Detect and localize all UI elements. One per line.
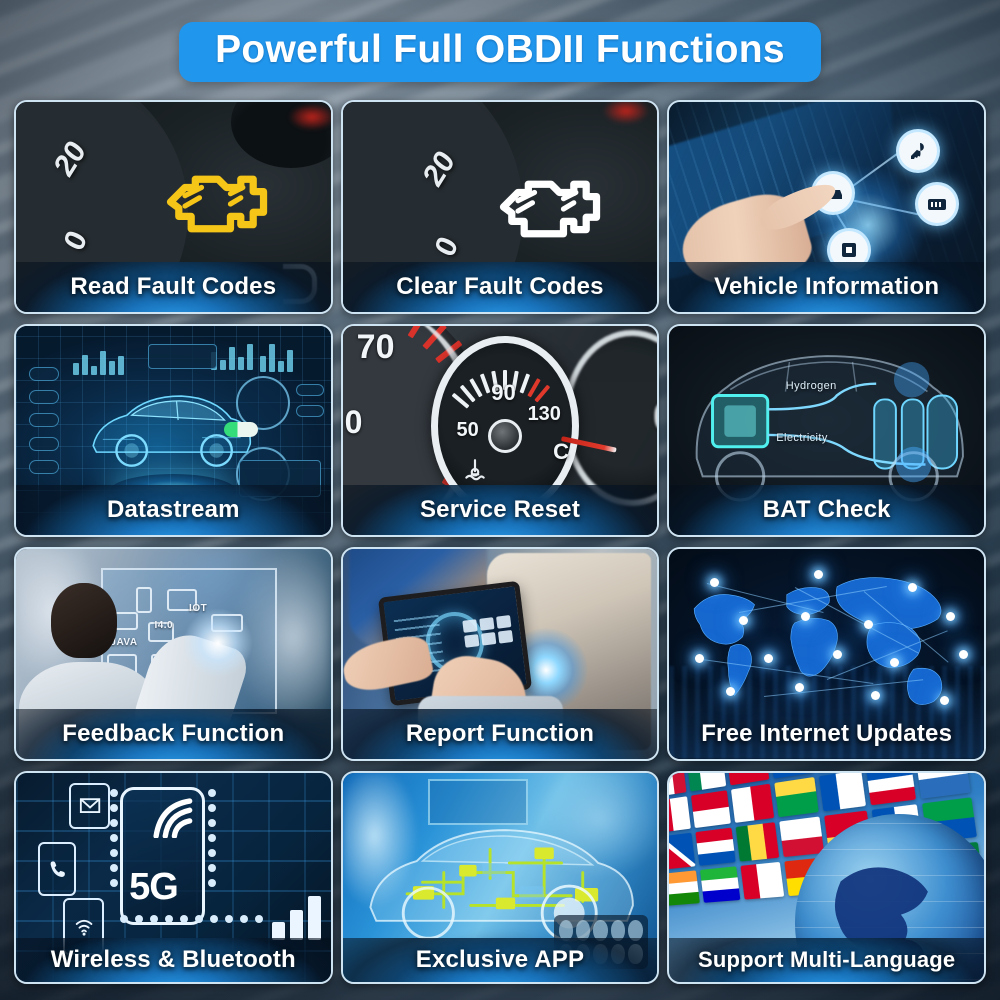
feature-card-read-fault-codes[interactable]: 20 0 Read Fault Codes xyxy=(14,100,333,314)
card-caption-label: Exclusive APP xyxy=(416,946,584,974)
gauge-tick-50: 50 xyxy=(456,419,478,442)
world-map xyxy=(676,557,978,733)
gauge-tick-130: 130 xyxy=(528,403,561,426)
feature-card-clear-fault-codes[interactable]: 20 0 Clear Fault Codes xyxy=(341,100,660,314)
gauge-tick-70: 70 xyxy=(357,328,395,367)
5g-label: 5G xyxy=(129,866,178,909)
feature-card-bat-check[interactable]: Hydrogen Electricity BAT Check xyxy=(667,324,986,538)
card-caption: Support Multi-Language xyxy=(669,938,984,982)
5g-chip: 5G xyxy=(120,787,205,925)
feature-card-free-internet-updates[interactable]: Free Internet Updates xyxy=(667,547,986,761)
card-caption: Feedback Function xyxy=(16,709,331,759)
card-caption: Read Fault Codes xyxy=(16,262,331,312)
flow-label-hydrogen: Hydrogen xyxy=(786,380,837,392)
card-caption: Vehicle Information xyxy=(669,262,984,312)
mail-icon xyxy=(69,783,110,829)
signal-bars-chart xyxy=(272,896,321,940)
feature-card-feedback-function[interactable]: JAVA I4.0 IOT Feedback Function xyxy=(14,547,333,761)
card-caption: Free Internet Updates xyxy=(669,709,984,759)
card-caption: Exclusive APP xyxy=(343,938,658,982)
coolant-temp-icon xyxy=(462,457,488,483)
card-caption: Service Reset xyxy=(343,485,658,535)
node-battery-icon xyxy=(915,182,959,226)
feature-card-vehicle-information[interactable]: Vehicle Information xyxy=(667,100,986,314)
node-key-icon xyxy=(896,129,940,173)
card-caption-label: Support Multi-Language xyxy=(698,947,955,973)
card-caption-label: Report Function xyxy=(406,720,594,748)
check-engine-icon xyxy=(487,161,611,257)
card-caption-label: Free Internet Updates xyxy=(701,720,952,748)
card-caption: Report Function xyxy=(343,709,658,759)
feature-card-wireless-bluetooth[interactable]: 5G Wireless & Bluetooth xyxy=(14,771,333,985)
right-gauge-zero: 0 xyxy=(653,395,657,440)
phone-icon xyxy=(38,842,76,896)
gauge-unit-celsius: C xyxy=(553,439,569,465)
page-title: Powerful Full OBDII Functions xyxy=(215,30,785,71)
card-caption-label: Service Reset xyxy=(420,496,580,524)
signal-waves-icon xyxy=(150,798,196,861)
check-engine-icon xyxy=(154,156,278,252)
feature-grid: 20 0 Read Fault Codes xyxy=(14,100,986,984)
card-caption-label: Read Fault Codes xyxy=(70,273,276,301)
card-caption-label: Feedback Function xyxy=(62,720,284,748)
feature-card-service-reset[interactable]: 70 0 0 50 90 xyxy=(341,324,660,538)
card-caption-label: Vehicle Information xyxy=(714,273,939,301)
card-caption-label: Clear Fault Codes xyxy=(396,273,603,301)
flow-label-electricity: Electricity xyxy=(776,432,827,444)
gauge-tick-0-left: 0 xyxy=(345,404,363,441)
touch-glow xyxy=(183,608,253,678)
card-caption-label: Wireless & Bluetooth xyxy=(51,946,296,974)
card-caption: Clear Fault Codes xyxy=(343,262,658,312)
header: Powerful Full OBDII Functions xyxy=(0,22,1000,82)
feature-card-datastream[interactable]: Datastream xyxy=(14,324,333,538)
card-caption: Datastream xyxy=(16,485,331,535)
feature-card-exclusive-app[interactable]: Exclusive APP xyxy=(341,771,660,985)
card-caption: BAT Check xyxy=(669,485,984,535)
card-caption-label: Datastream xyxy=(107,496,240,524)
title-pill: Powerful Full OBDII Functions xyxy=(179,22,821,82)
tag-i40: I4.0 xyxy=(154,620,173,631)
card-caption: Wireless & Bluetooth xyxy=(16,938,331,982)
card-caption-label: BAT Check xyxy=(763,496,891,524)
feature-card-report-function[interactable]: Report Function xyxy=(341,547,660,761)
feature-card-support-multi-language[interactable]: Support Multi-Language xyxy=(667,771,986,985)
gauge-tick-90: 90 xyxy=(491,380,515,406)
status-toggle xyxy=(224,422,258,437)
